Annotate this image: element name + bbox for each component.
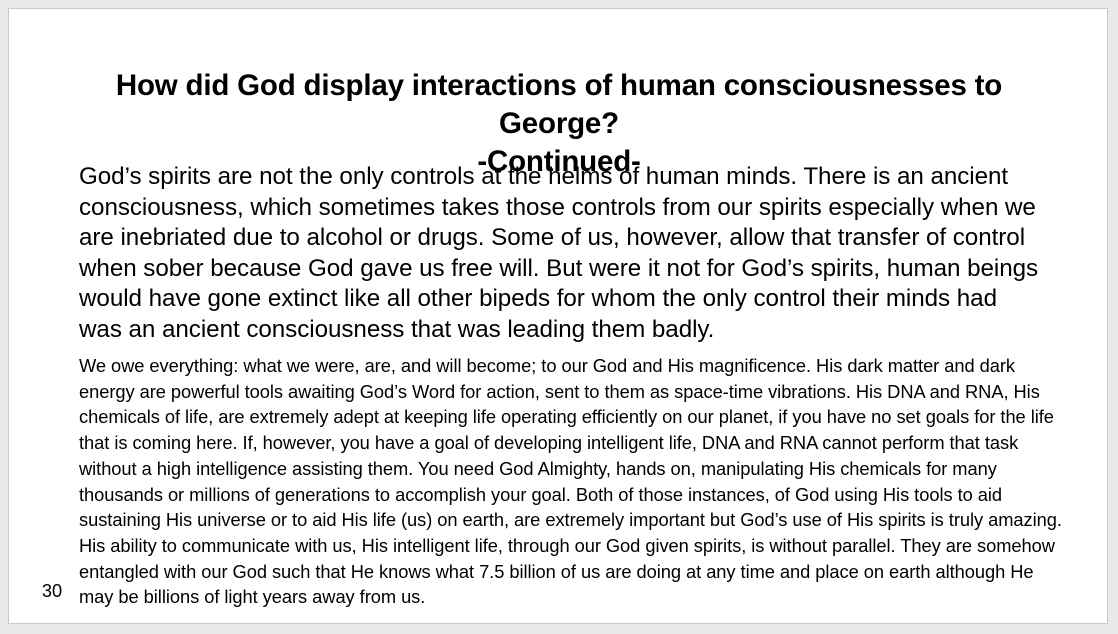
slide-canvas: How did God display interactions of huma… (9, 9, 1107, 623)
slide-frame: How did God display interactions of huma… (8, 8, 1108, 624)
slide-number: 30 (34, 579, 70, 603)
slide-title-line-1: How did God display interactions of huma… (71, 67, 1047, 143)
body-paragraph-secondary: We owe everything: what we were, are, an… (79, 353, 1064, 610)
body-paragraph-primary: God’s spirits are not the only controls … (79, 162, 1041, 345)
